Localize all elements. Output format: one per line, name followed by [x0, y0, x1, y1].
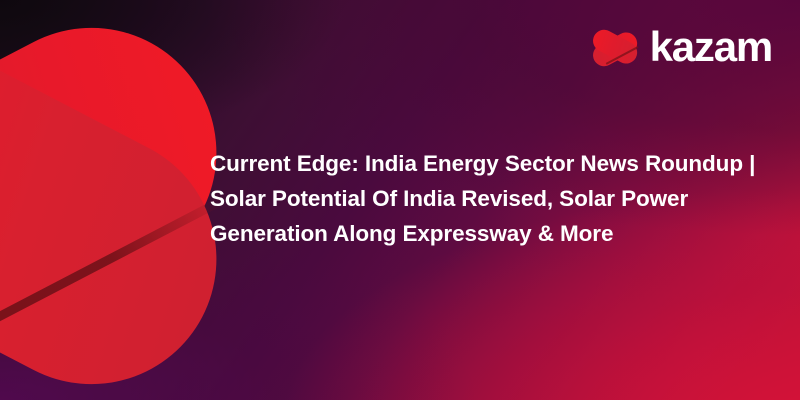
headline-line-2: Solar Potential Of India Revised, Solar … [210, 181, 770, 216]
headline-line-1: Current Edge: India Energy Sector News R… [210, 146, 770, 181]
headline-line-3: Generation Along Expressway & More [210, 216, 770, 251]
brand-wordmark: kazam [650, 26, 772, 68]
article-banner: Current Edge: India Energy Sector News R… [0, 0, 800, 400]
page-title: Current Edge: India Energy Sector News R… [210, 146, 770, 251]
kazam-chevron-icon [596, 24, 640, 72]
brand-logo[interactable]: kazam [596, 24, 772, 72]
